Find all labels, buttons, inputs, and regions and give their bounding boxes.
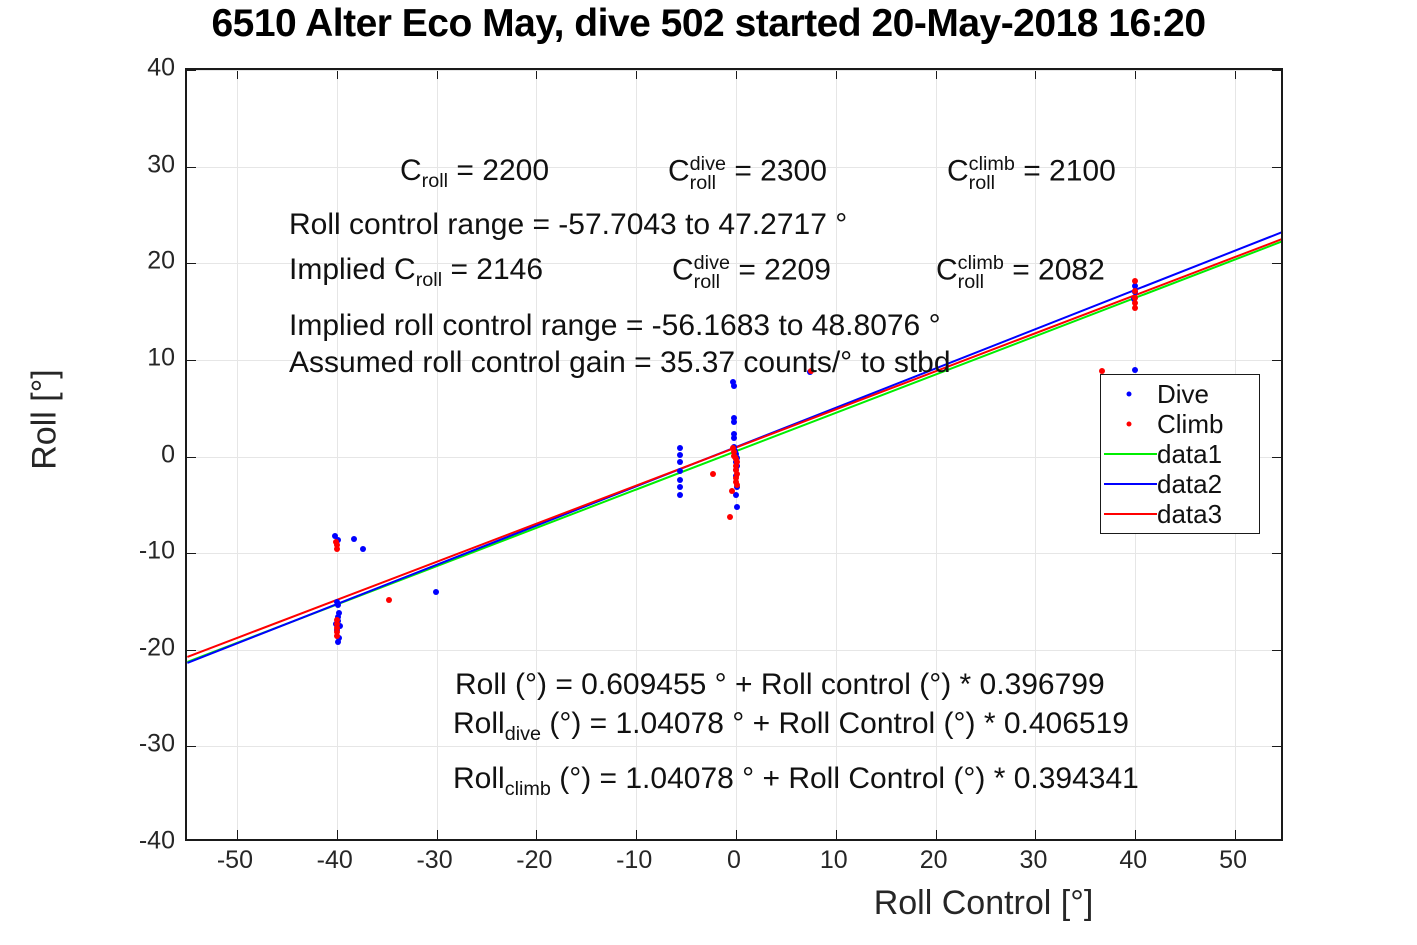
- y-tick: [187, 553, 196, 554]
- equation-roll-all: Roll (°) = 0.609455 ° + Roll control (°)…: [455, 668, 1105, 702]
- x-tick-top: [936, 70, 937, 79]
- c-climb-superscript: climb: [969, 155, 1015, 174]
- x-tick: [636, 830, 637, 839]
- annotation-c-roll-dive: Cdiveroll = 2300: [668, 154, 827, 192]
- y-tick-right: [1272, 70, 1281, 71]
- implied-c-climb-value: = 2082: [1012, 254, 1105, 287]
- data-point-dive: [351, 536, 357, 542]
- implied-c-dive-symbol: C: [672, 254, 694, 287]
- data-point-dive: [677, 452, 683, 458]
- x-tick-top: [836, 70, 837, 79]
- equation-roll-climb-body: (°) = 1.04078 ° + Roll Control (°) * 0.3…: [559, 762, 1139, 795]
- data-point-dive: [335, 602, 341, 608]
- x-tick-label: -10: [616, 846, 652, 875]
- data-point-dive: [677, 477, 683, 483]
- y-tick-right: [1272, 650, 1281, 651]
- x-tick-top: [237, 70, 238, 79]
- legend-item-data3[interactable]: data3: [1101, 499, 1259, 529]
- annotation-assumed-gain: Assumed roll control gain = 35.37 counts…: [289, 346, 951, 380]
- data-point-climb: [1132, 288, 1138, 294]
- x-tick: [836, 830, 837, 839]
- x-tick: [736, 830, 737, 839]
- gridline-horizontal: [187, 553, 1281, 554]
- x-tick-top: [1035, 70, 1036, 79]
- y-tick-right: [1272, 553, 1281, 554]
- implied-c-roll-value: = 2146: [450, 253, 543, 286]
- legend-key-line: [1101, 439, 1157, 469]
- implied-c-dive-subscript: roll: [694, 273, 730, 292]
- data-point-dive: [433, 589, 439, 595]
- data-point-dive: [731, 383, 737, 389]
- legend-item-dive[interactable]: Dive: [1101, 379, 1259, 409]
- y-tick-label: 40: [90, 54, 175, 83]
- legend-label: data2: [1157, 471, 1222, 497]
- y-axis-title: Roll [°]: [26, 70, 65, 770]
- c-roll-value: = 2200: [456, 154, 549, 187]
- legend-marker-dot: [1127, 392, 1132, 397]
- x-tick: [936, 830, 937, 839]
- y-tick: [187, 650, 196, 651]
- legend-marker-line: [1104, 453, 1157, 455]
- legend-key-line: [1101, 499, 1157, 529]
- y-tick-right: [1272, 746, 1281, 747]
- gridline-horizontal: [187, 70, 1281, 71]
- implied-c-dive-value: = 2209: [738, 254, 831, 287]
- c-dive-value: = 2300: [734, 155, 827, 188]
- chart-title: 6510 Alter Eco May, dive 502 started 20-…: [211, 2, 1205, 46]
- data-point-climb: [334, 546, 340, 552]
- y-tick: [187, 360, 196, 361]
- y-tick-right: [1272, 167, 1281, 168]
- data-point-dive: [360, 546, 366, 552]
- x-tick-label: 40: [1119, 846, 1147, 875]
- data-point-dive: [731, 435, 737, 441]
- legend-label: Dive: [1157, 381, 1209, 407]
- implied-c-climb-subscript: roll: [958, 273, 1004, 292]
- y-tick: [187, 457, 196, 458]
- data-point-dive: [677, 484, 683, 490]
- gridline-vertical: [237, 70, 238, 839]
- x-tick: [1135, 830, 1136, 839]
- equation-roll-dive: Rolldive (°) = 1.04078 ° + Roll Control …: [453, 707, 1129, 746]
- y-tick-label: -40: [90, 827, 175, 856]
- data-point-dive: [335, 639, 341, 645]
- y-tick: [187, 167, 196, 168]
- annotation-c-roll: Croll = 2200: [400, 154, 549, 193]
- gridline-vertical: [337, 70, 338, 839]
- x-tick: [337, 830, 338, 839]
- x-axis-title-text: Roll Control [°]: [874, 884, 1094, 922]
- annotation-roll-control-range: Roll control range = -57.7043 to 47.2717…: [289, 208, 847, 242]
- data-point-climb: [729, 488, 735, 494]
- y-tick-label: 0: [90, 440, 175, 469]
- x-tick-label: 20: [920, 846, 948, 875]
- data-point-dive: [734, 504, 740, 510]
- c-climb-value: = 2100: [1023, 155, 1116, 188]
- x-tick-top: [437, 70, 438, 79]
- legend-marker-line: [1104, 513, 1157, 515]
- y-tick-label: -30: [90, 730, 175, 759]
- c-climb-symbol: C: [947, 155, 969, 188]
- y-tick-label: -10: [90, 537, 175, 566]
- implied-c-dive-superscript: dive: [694, 254, 730, 273]
- implied-c-climb-superscript: climb: [958, 254, 1004, 273]
- c-roll-symbol: C: [400, 154, 422, 187]
- equation-roll-climb-name: Roll: [453, 762, 505, 795]
- annotation-c-roll-climb: Cclimbroll = 2100: [947, 154, 1116, 192]
- data-point-climb: [1132, 278, 1138, 284]
- x-tick-label: 10: [820, 846, 848, 875]
- implied-c-roll-symbol: Implied C: [289, 253, 416, 286]
- x-tick: [1035, 830, 1036, 839]
- annotation-implied-c-dive: Cdiveroll = 2209: [672, 253, 831, 291]
- x-tick: [1235, 830, 1236, 839]
- data-point-dive: [731, 419, 737, 425]
- x-tick-label: -30: [416, 846, 452, 875]
- data-point-climb: [734, 482, 740, 488]
- x-tick-top: [736, 70, 737, 79]
- legend-key-marker: [1101, 409, 1157, 439]
- equation-roll-climb: Rollclimb (°) = 1.04078 ° + Roll Control…: [453, 762, 1139, 801]
- legend-label: data3: [1157, 501, 1222, 527]
- y-tick: [187, 746, 196, 747]
- implied-c-roll-subscript: roll: [416, 269, 442, 291]
- c-roll-subscript: roll: [422, 170, 448, 192]
- equation-roll-dive-body: (°) = 1.04078 ° + Roll Control (°) * 0.4…: [549, 707, 1129, 740]
- x-tick-top: [1235, 70, 1236, 79]
- y-tick-right: [1272, 360, 1281, 361]
- y-tick: [187, 70, 196, 71]
- x-tick-top: [636, 70, 637, 79]
- y-tick-label: 30: [90, 150, 175, 179]
- legend-item-data2[interactable]: data2: [1101, 469, 1259, 499]
- x-tick-top: [1135, 70, 1136, 79]
- legend-key-marker: [1101, 379, 1157, 409]
- legend: DiveClimbdata1data2data3: [1100, 374, 1260, 534]
- y-tick-right: [1272, 263, 1281, 264]
- gridline-horizontal: [187, 650, 1281, 651]
- legend-marker-dot: [1127, 422, 1132, 427]
- y-tick-label: -20: [90, 633, 175, 662]
- equation-roll-climb-subscript: climb: [505, 778, 551, 800]
- legend-label: Climb: [1157, 411, 1223, 437]
- data-point-climb: [334, 633, 340, 639]
- y-tick-label: 20: [90, 247, 175, 276]
- x-tick-label: 30: [1020, 846, 1048, 875]
- annotation-implied-c-roll: Implied Croll = 2146: [289, 253, 543, 292]
- legend-key-line: [1101, 469, 1157, 499]
- data-point-dive: [677, 468, 683, 474]
- x-tick-label: 0: [727, 846, 741, 875]
- data-point-climb: [710, 471, 716, 477]
- x-tick-top: [337, 70, 338, 79]
- legend-item-data1[interactable]: data1: [1101, 439, 1259, 469]
- x-tick: [536, 830, 537, 839]
- legend-label: data1: [1157, 441, 1222, 467]
- data-point-dive: [677, 445, 683, 451]
- x-tick-label: -50: [217, 846, 253, 875]
- gridline-horizontal: [187, 746, 1281, 747]
- data-point-climb: [1132, 295, 1138, 301]
- equation-roll-dive-subscript: dive: [505, 723, 541, 745]
- data-point-climb: [386, 597, 392, 603]
- x-tick-label: 50: [1219, 846, 1247, 875]
- legend-item-climb[interactable]: Climb: [1101, 409, 1259, 439]
- c-climb-subscript: roll: [969, 174, 1015, 193]
- c-dive-superscript: dive: [690, 155, 726, 174]
- x-tick-top: [536, 70, 537, 79]
- c-dive-subscript: roll: [690, 174, 726, 193]
- data-point-dive: [677, 459, 683, 465]
- x-tick: [237, 830, 238, 839]
- equation-roll-dive-name: Roll: [453, 707, 505, 740]
- x-tick-label: -20: [516, 846, 552, 875]
- implied-c-climb-symbol: C: [936, 254, 958, 287]
- annotation-implied-roll-control-range: Implied roll control range = -56.1683 to…: [289, 309, 941, 343]
- x-axis-title: Roll Control [°]: [0, 884, 1417, 923]
- c-dive-symbol: C: [668, 155, 690, 188]
- x-tick: [437, 830, 438, 839]
- legend-marker-line: [1104, 483, 1157, 485]
- y-tick: [187, 263, 196, 264]
- annotation-implied-c-climb: Cclimbroll = 2082: [936, 253, 1105, 291]
- x-tick-label: -40: [317, 846, 353, 875]
- y-tick-label: 10: [90, 343, 175, 372]
- y-tick-right: [1272, 457, 1281, 458]
- data-point-dive: [1132, 367, 1138, 373]
- data-point-climb: [727, 514, 733, 520]
- data-point-dive: [677, 492, 683, 498]
